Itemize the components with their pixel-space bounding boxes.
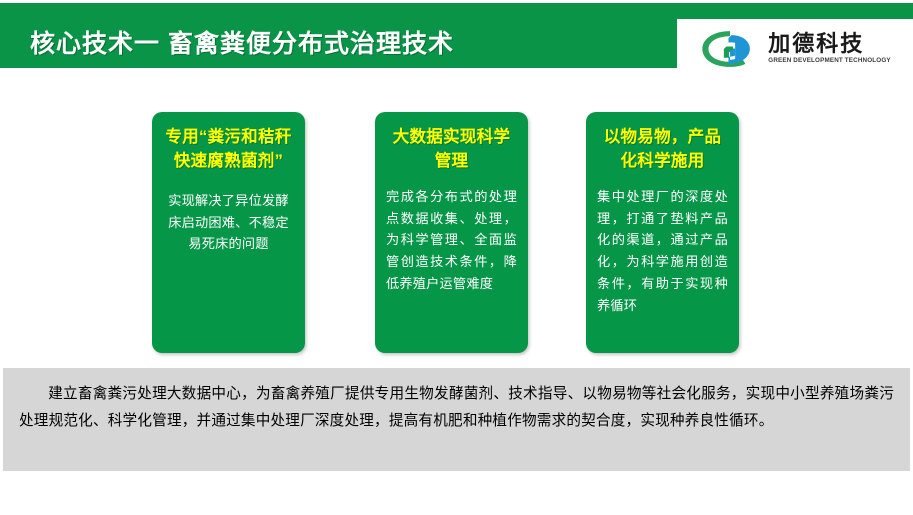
brand-name-cn: 加德科技	[768, 33, 890, 55]
feature-card-2[interactable]: 大数据实现科学管理 完成各分布式的处理点数据收集、处理，为科学管理、全面监管创造…	[375, 112, 528, 353]
feature-card-1[interactable]: 专用“粪污和秸秆快速腐熟菌剂” 实现解决了异位发酵床启动困难、不稳定易死床的问题	[152, 112, 305, 353]
feature-card-2-body: 完成各分布式的处理点数据收集、处理，为科学管理、全面监管创造技术条件，降低养殖户…	[386, 186, 517, 295]
brand-text: 加德科技 GREEN DEVELOPMENT TECHNOLOGY	[768, 33, 890, 64]
brand-logo: 加德科技 GREEN DEVELOPMENT TECHNOLOGY	[677, 19, 913, 79]
slide-root: 核心技术一 畜禽粪便分布式治理技术 加德科技 GREEN DEVELOPMENT…	[0, 0, 913, 515]
summary-note-box: 建立畜禽粪污处理大数据中心，为畜禽养殖厂提供专用生物发酵菌剂、技术指导、以物易物…	[3, 368, 910, 471]
feature-card-3[interactable]: 以物易物，产品化科学施用 集中处理厂的深度处理，打通了垫料产品化的渠道，通过产品…	[586, 112, 739, 353]
feature-card-3-title: 以物易物，产品化科学施用	[597, 126, 728, 174]
jiade-gd-monogram-icon	[699, 28, 761, 70]
header-top-strip	[0, 3, 913, 19]
feature-card-1-body: 实现解决了异位发酵床启动困难、不稳定易死床的问题	[163, 190, 294, 255]
brand-name-en: GREEN DEVELOPMENT TECHNOLOGY	[768, 58, 890, 64]
page-title: 核心技术一 畜禽粪便分布式治理技术	[30, 24, 670, 64]
summary-note-text: 建立畜禽粪污处理大数据中心，为畜禽养殖厂提供专用生物发酵菌剂、技术指导、以物易物…	[19, 381, 894, 435]
feature-card-3-body: 集中处理厂的深度处理，打通了垫料产品化的渠道，通过产品化，为科学施用创造条件，有…	[597, 186, 728, 317]
feature-card-2-title: 大数据实现科学管理	[386, 126, 517, 174]
feature-card-1-title: 专用“粪污和秸秆快速腐熟菌剂”	[163, 126, 294, 174]
